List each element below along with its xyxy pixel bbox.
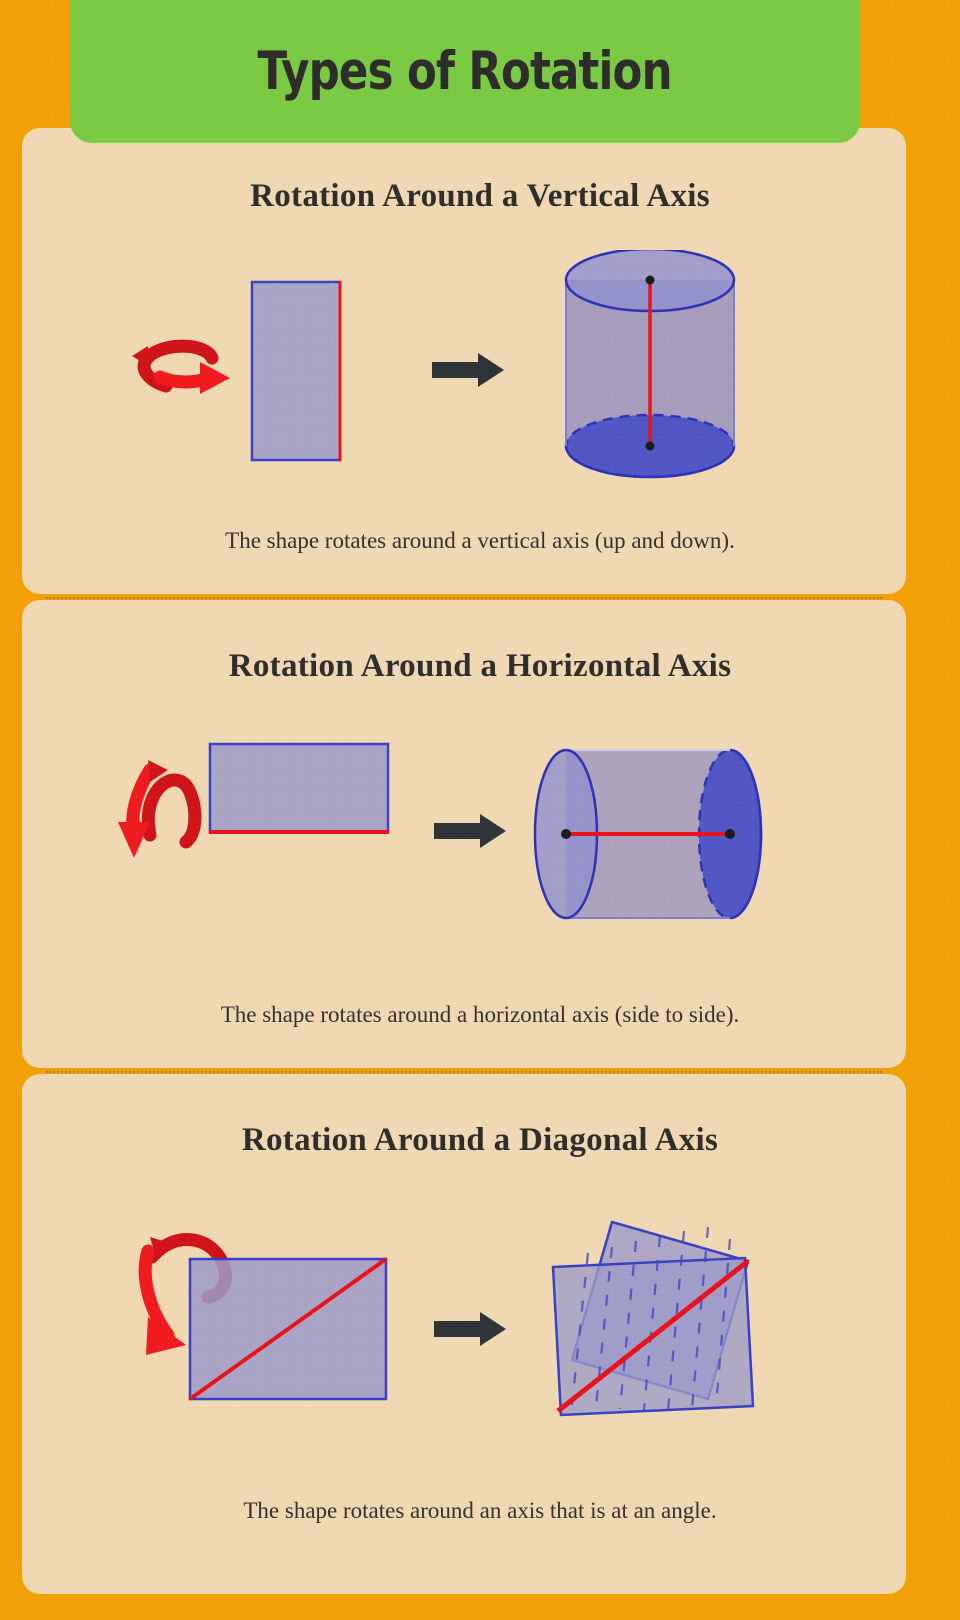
section-heading-horizontal: Rotation Around a Horizontal Axis [0, 648, 960, 685]
diagram-horizontal [0, 730, 960, 940]
spin-arrow-icon [132, 346, 230, 394]
source-rectangle [209, 744, 389, 832]
result-cylinder-horizontal [535, 750, 761, 918]
transform-arrow-icon [434, 814, 506, 848]
source-rectangle-diagonal [190, 1259, 386, 1399]
page-title: Types of Rotation [258, 41, 672, 102]
section-divider-1 [46, 597, 882, 599]
transform-arrow-icon [432, 353, 504, 387]
diagram-diagonal [0, 1195, 960, 1455]
section-caption-horizontal: The shape rotates around a horizontal ax… [0, 1002, 960, 1028]
result-swept-rectangles [553, 1222, 753, 1415]
section-divider-2 [46, 1071, 882, 1073]
section-heading-diagonal: Rotation Around a Diagonal Axis [0, 1122, 960, 1159]
section-heading-vertical: Rotation Around a Vertical Axis [0, 178, 960, 215]
title-banner: Types of Rotation [70, 0, 860, 143]
section-caption-vertical: The shape rotates around a vertical axis… [0, 528, 960, 554]
source-rectangle [252, 281, 340, 461]
section-caption-diagonal: The shape rotates around an axis that is… [0, 1498, 960, 1524]
result-cylinder-vertical [566, 250, 734, 477]
transform-arrow-icon [434, 1312, 506, 1346]
spin-arrow-icon [118, 760, 195, 858]
diagram-vertical [0, 250, 960, 480]
